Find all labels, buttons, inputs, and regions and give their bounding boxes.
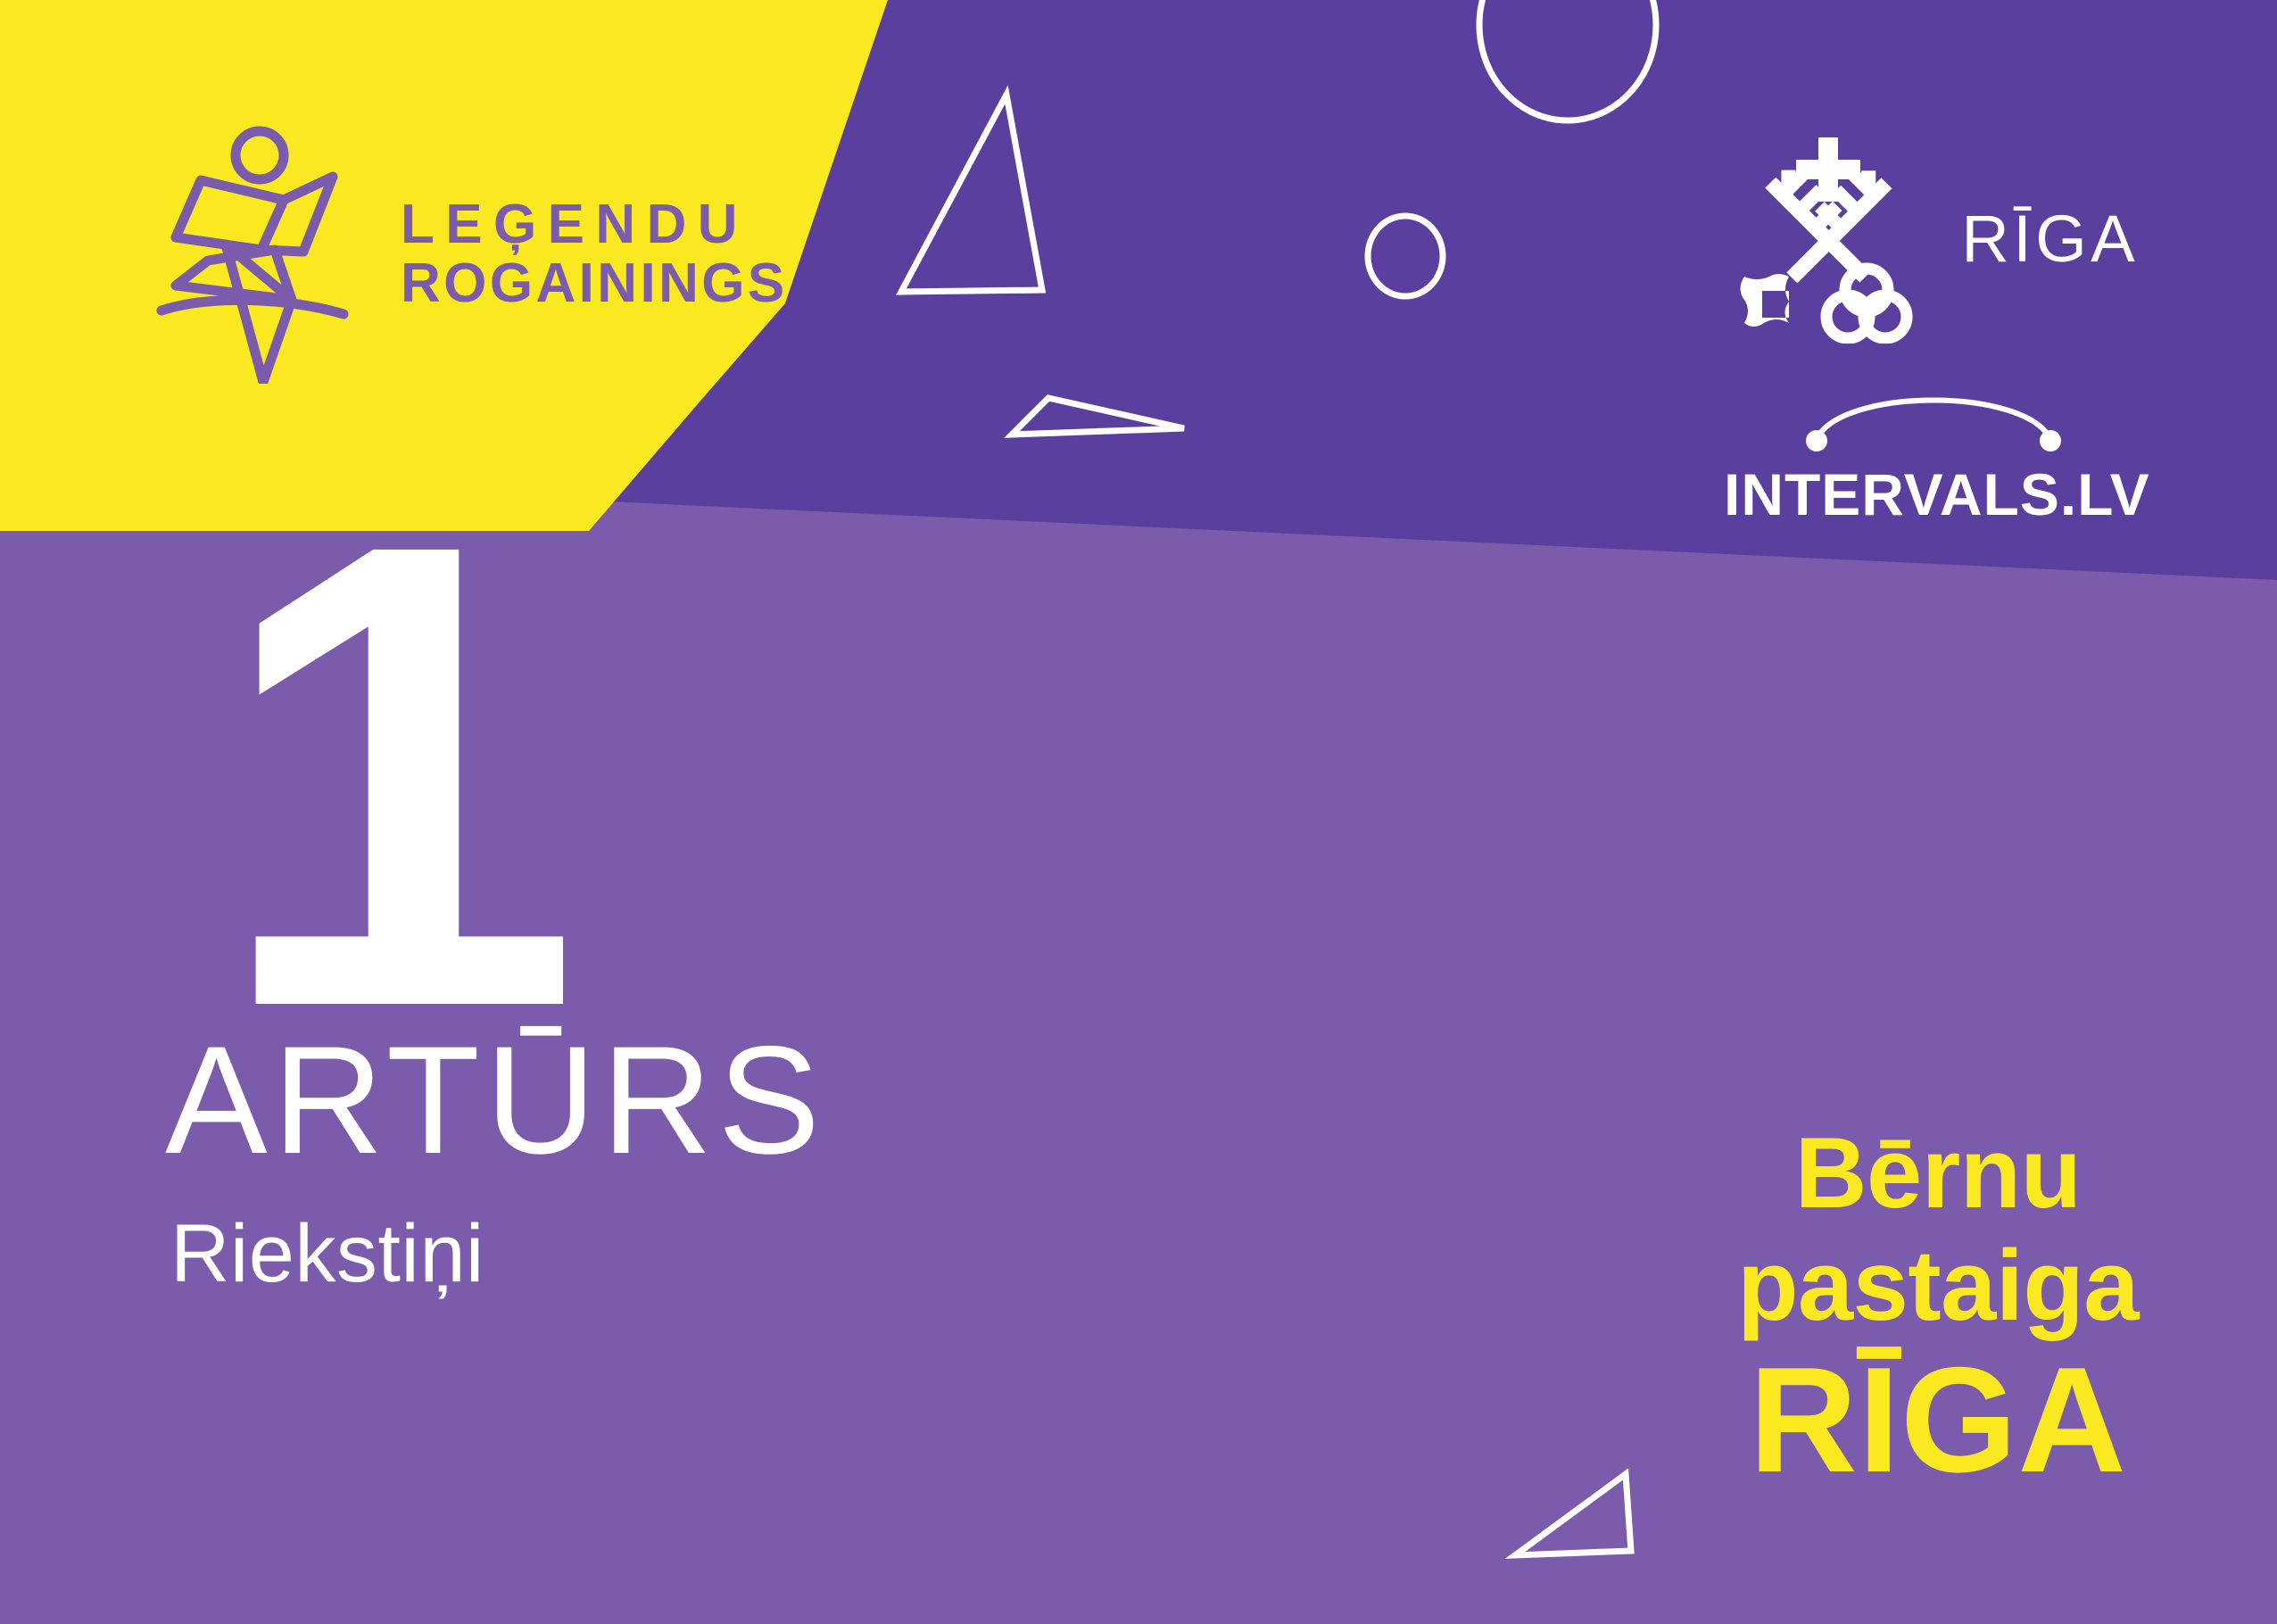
circle-outline-large-icon: [1479, 0, 1656, 120]
participant-first-name: ARTŪRS: [165, 1023, 825, 1177]
circle-outline-small-icon: [1368, 216, 1443, 296]
triangle-outline-icon: [901, 95, 1042, 292]
bib-number-card: LEĢENDU ROGAININGS: [0, 0, 2277, 1624]
event-title-block: Bērnu pastaiga RĪGA: [1737, 1123, 2139, 1495]
riga-label: RĪGA: [1961, 201, 2139, 277]
event-title-line-3: RĪGA: [1737, 1345, 2139, 1495]
triangle-outline-bottom-icon: [1515, 1474, 1631, 1555]
participant-block: 1 ARTŪRS Riekstiņi: [165, 518, 825, 1295]
brand-line-2: ROGAININGS: [401, 254, 788, 313]
triangle-outline-small-icon: [1012, 398, 1184, 435]
event-title-line-1: Bērnu: [1737, 1123, 2139, 1223]
event-title-line-2: pastaiga: [1737, 1236, 2139, 1336]
intervals-arc-icon: [1804, 384, 2063, 455]
riga-lockup: RĪGA: [1728, 134, 2139, 344]
riga-crossed-keys-crest-icon: [1728, 134, 1929, 344]
brand-lockup-legendu-rogainings: LEĢENDU ROGAININGS: [156, 125, 788, 384]
rogaining-runner-figure-icon: [156, 125, 361, 384]
brand-line-1: LEĢENDU: [401, 195, 788, 254]
participant-surname: Riekstiņi: [170, 1213, 825, 1295]
participant-number: 1: [214, 518, 825, 1032]
intervals-lockup: INTERVALS.LV: [1724, 384, 2143, 528]
brand-wordmark: LEĢENDU ROGAININGS: [401, 195, 788, 312]
intervals-label: INTERVALS.LV: [1724, 461, 2150, 527]
